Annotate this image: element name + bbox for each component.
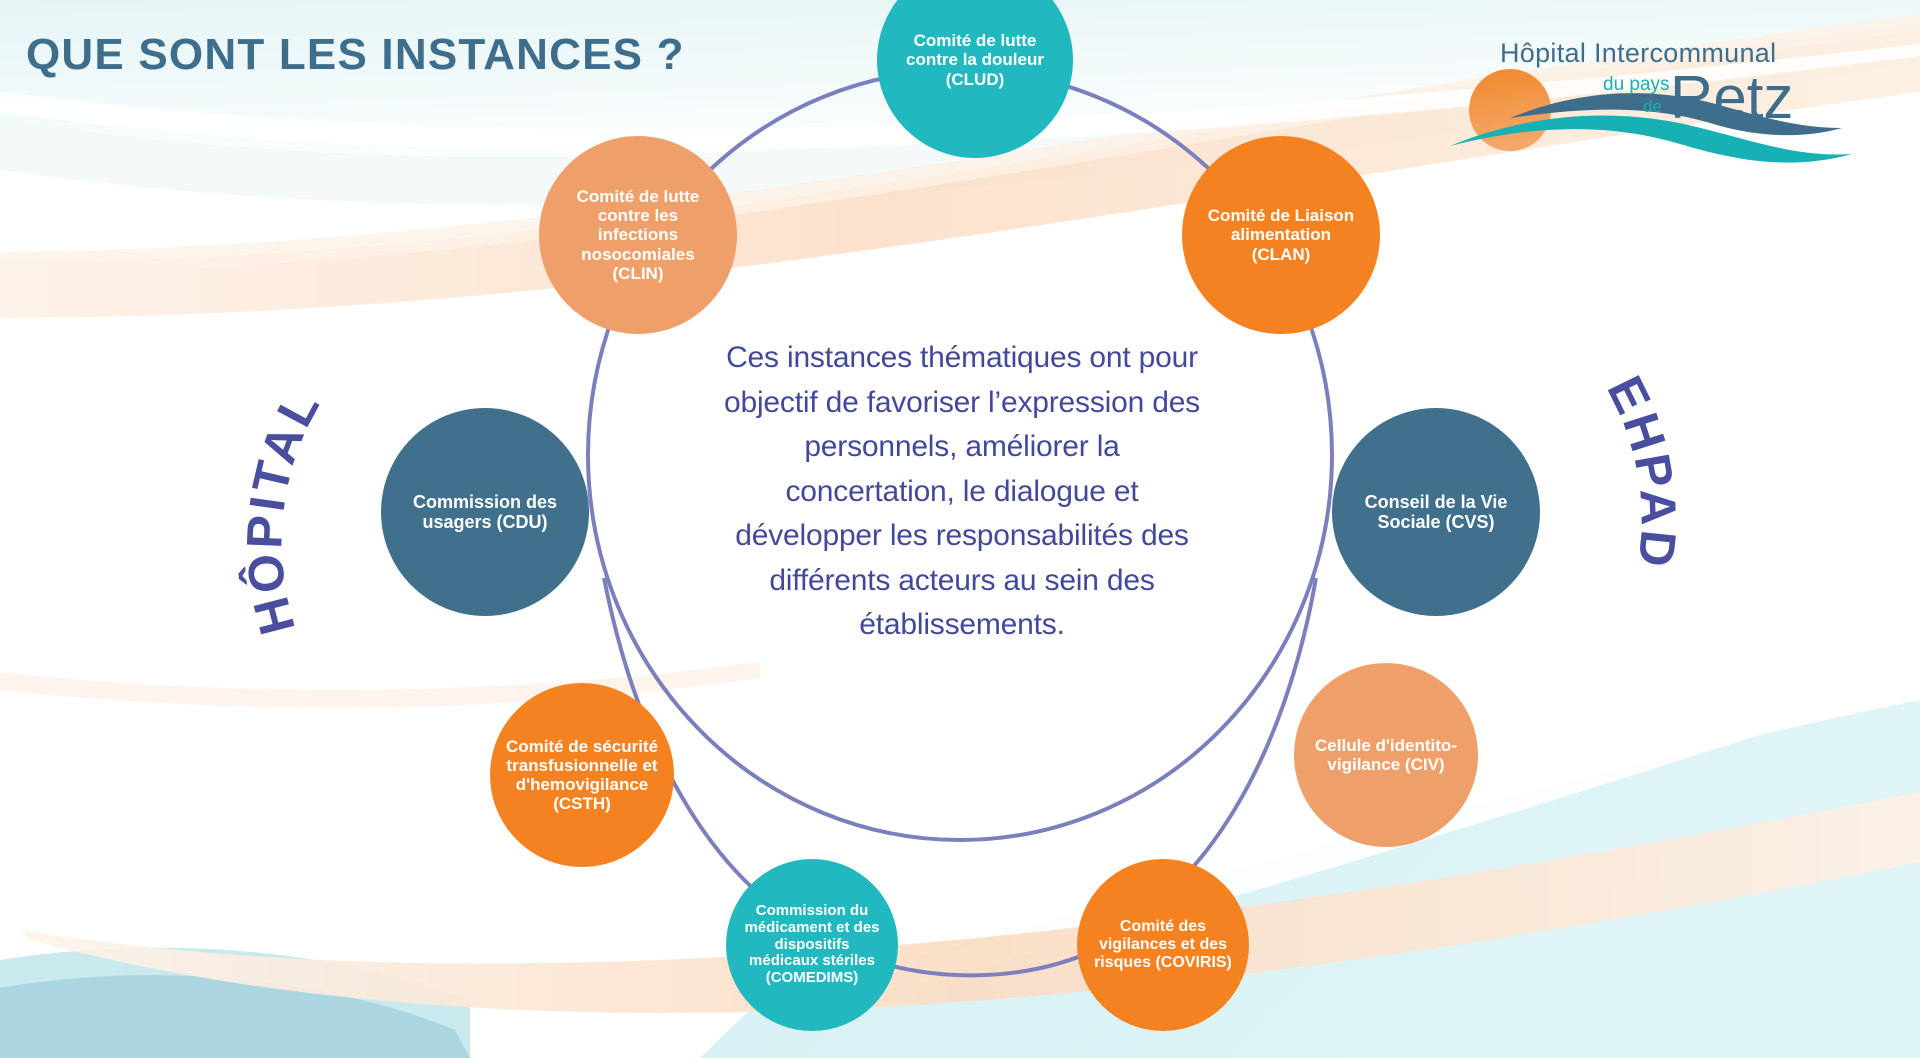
logo-line3: de xyxy=(1643,97,1662,116)
section-label-hopital-text: HÔPITAL xyxy=(235,379,331,640)
section-label-ehpad: EHPAD xyxy=(1596,367,1686,572)
infographic-slide: HÔPITAL EHPAD QUE SONT LES INSTANCES ? H… xyxy=(0,0,1920,1058)
organization-logo: Hôpital Intercommunal du pays de Retz xyxy=(1448,28,1878,168)
logo-line2: du pays xyxy=(1603,74,1670,95)
section-label-ehpad-text: EHPAD xyxy=(1596,367,1686,572)
logo-graphic: Hôpital Intercommunal du pays de Retz xyxy=(1448,28,1878,168)
logo-line4: Retz xyxy=(1670,64,1793,131)
section-label-hopital: HÔPITAL xyxy=(235,379,331,640)
page-title: QUE SONT LES INSTANCES ? xyxy=(26,30,685,80)
